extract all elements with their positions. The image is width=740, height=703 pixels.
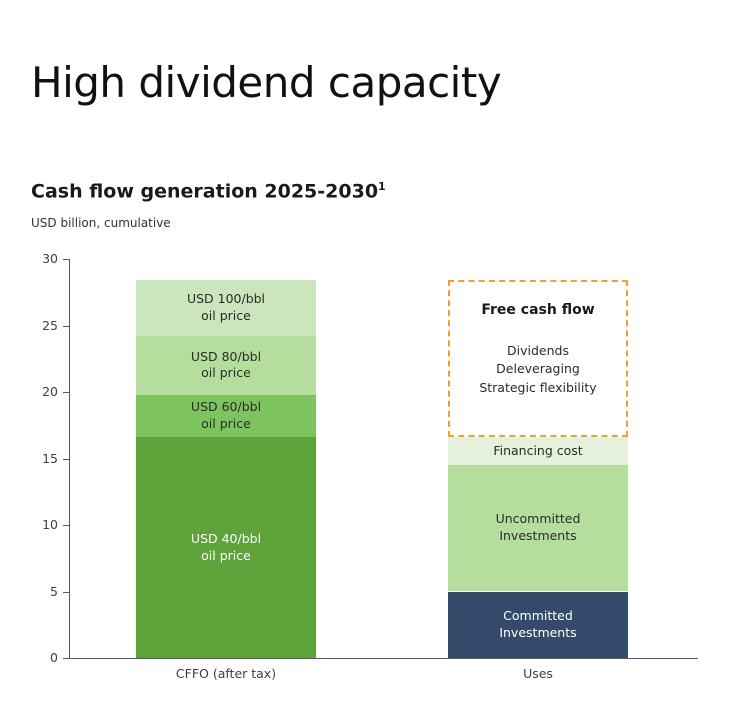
y-tick-mark: [63, 592, 69, 593]
y-tick-mark: [63, 259, 69, 260]
y-tick-label: 0: [50, 652, 58, 665]
bar-segment[interactable]: CommittedInvestments: [448, 592, 628, 659]
bar-segment[interactable]: USD 100/bbloil price: [136, 280, 316, 336]
bar-segment-label: USD 40/bbl: [191, 531, 261, 548]
y-tick-mark: [63, 658, 69, 659]
y-tick-mark: [63, 525, 69, 526]
bar-segment[interactable]: USD 80/bbloil price: [136, 336, 316, 395]
bar-segment-label: USD 80/bbl: [191, 349, 261, 366]
y-tick-label: 20: [42, 386, 58, 399]
free-cash-flow-items: DividendsDeleveragingStrategic flexibili…: [479, 342, 596, 396]
bar-segment[interactable]: USD 60/bbloil price: [136, 395, 316, 438]
bar-segment-label: USD 60/bbl: [191, 399, 261, 416]
y-axis-line: [69, 259, 70, 659]
bar-segment-label: Committed: [503, 608, 573, 625]
y-tick-mark: [63, 392, 69, 393]
bar-segment-label: Uncommitted: [496, 511, 581, 528]
bar-segment[interactable]: UncommittedInvestments: [448, 465, 628, 591]
y-tick-label: 15: [42, 453, 58, 466]
x-category-label: Uses: [448, 666, 628, 681]
bar-segment-sublabel: Investments: [499, 625, 576, 642]
bar-segment-sublabel: Investments: [499, 528, 576, 545]
bar-segment-sublabel: oil price: [201, 416, 251, 433]
y-tick-label: 5: [50, 586, 58, 599]
bar-segment[interactable]: Financing cost: [448, 437, 628, 465]
bar-segment[interactable]: USD 40/bbloil price: [136, 437, 316, 658]
free-cash-flow-callout: Free cash flow DividendsDeleveragingStra…: [448, 280, 628, 437]
bar-segment-label: USD 100/bbl: [187, 291, 265, 308]
y-tick-label: 25: [42, 320, 58, 333]
x-category-label: CFFO (after tax): [136, 666, 316, 681]
free-cash-flow-item: Dividends: [479, 342, 596, 360]
bar-segment-label: Financing cost: [493, 443, 582, 460]
y-tick-label: 10: [42, 519, 58, 532]
free-cash-flow-item: Strategic flexibility: [479, 379, 596, 397]
y-tick-label: 30: [42, 253, 58, 266]
y-tick-mark: [63, 459, 69, 460]
bar-segment-sublabel: oil price: [201, 308, 251, 325]
bar-segment-sublabel: oil price: [201, 365, 251, 382]
x-axis-line: [69, 658, 698, 659]
free-cash-flow-heading: Free cash flow: [481, 302, 594, 318]
free-cash-flow-item: Deleveraging: [479, 360, 596, 378]
bar-chart: 051015202530 USD 40/bbloil priceUSD 60/b…: [0, 0, 740, 703]
y-tick-mark: [63, 326, 69, 327]
bar-segment-sublabel: oil price: [201, 548, 251, 565]
